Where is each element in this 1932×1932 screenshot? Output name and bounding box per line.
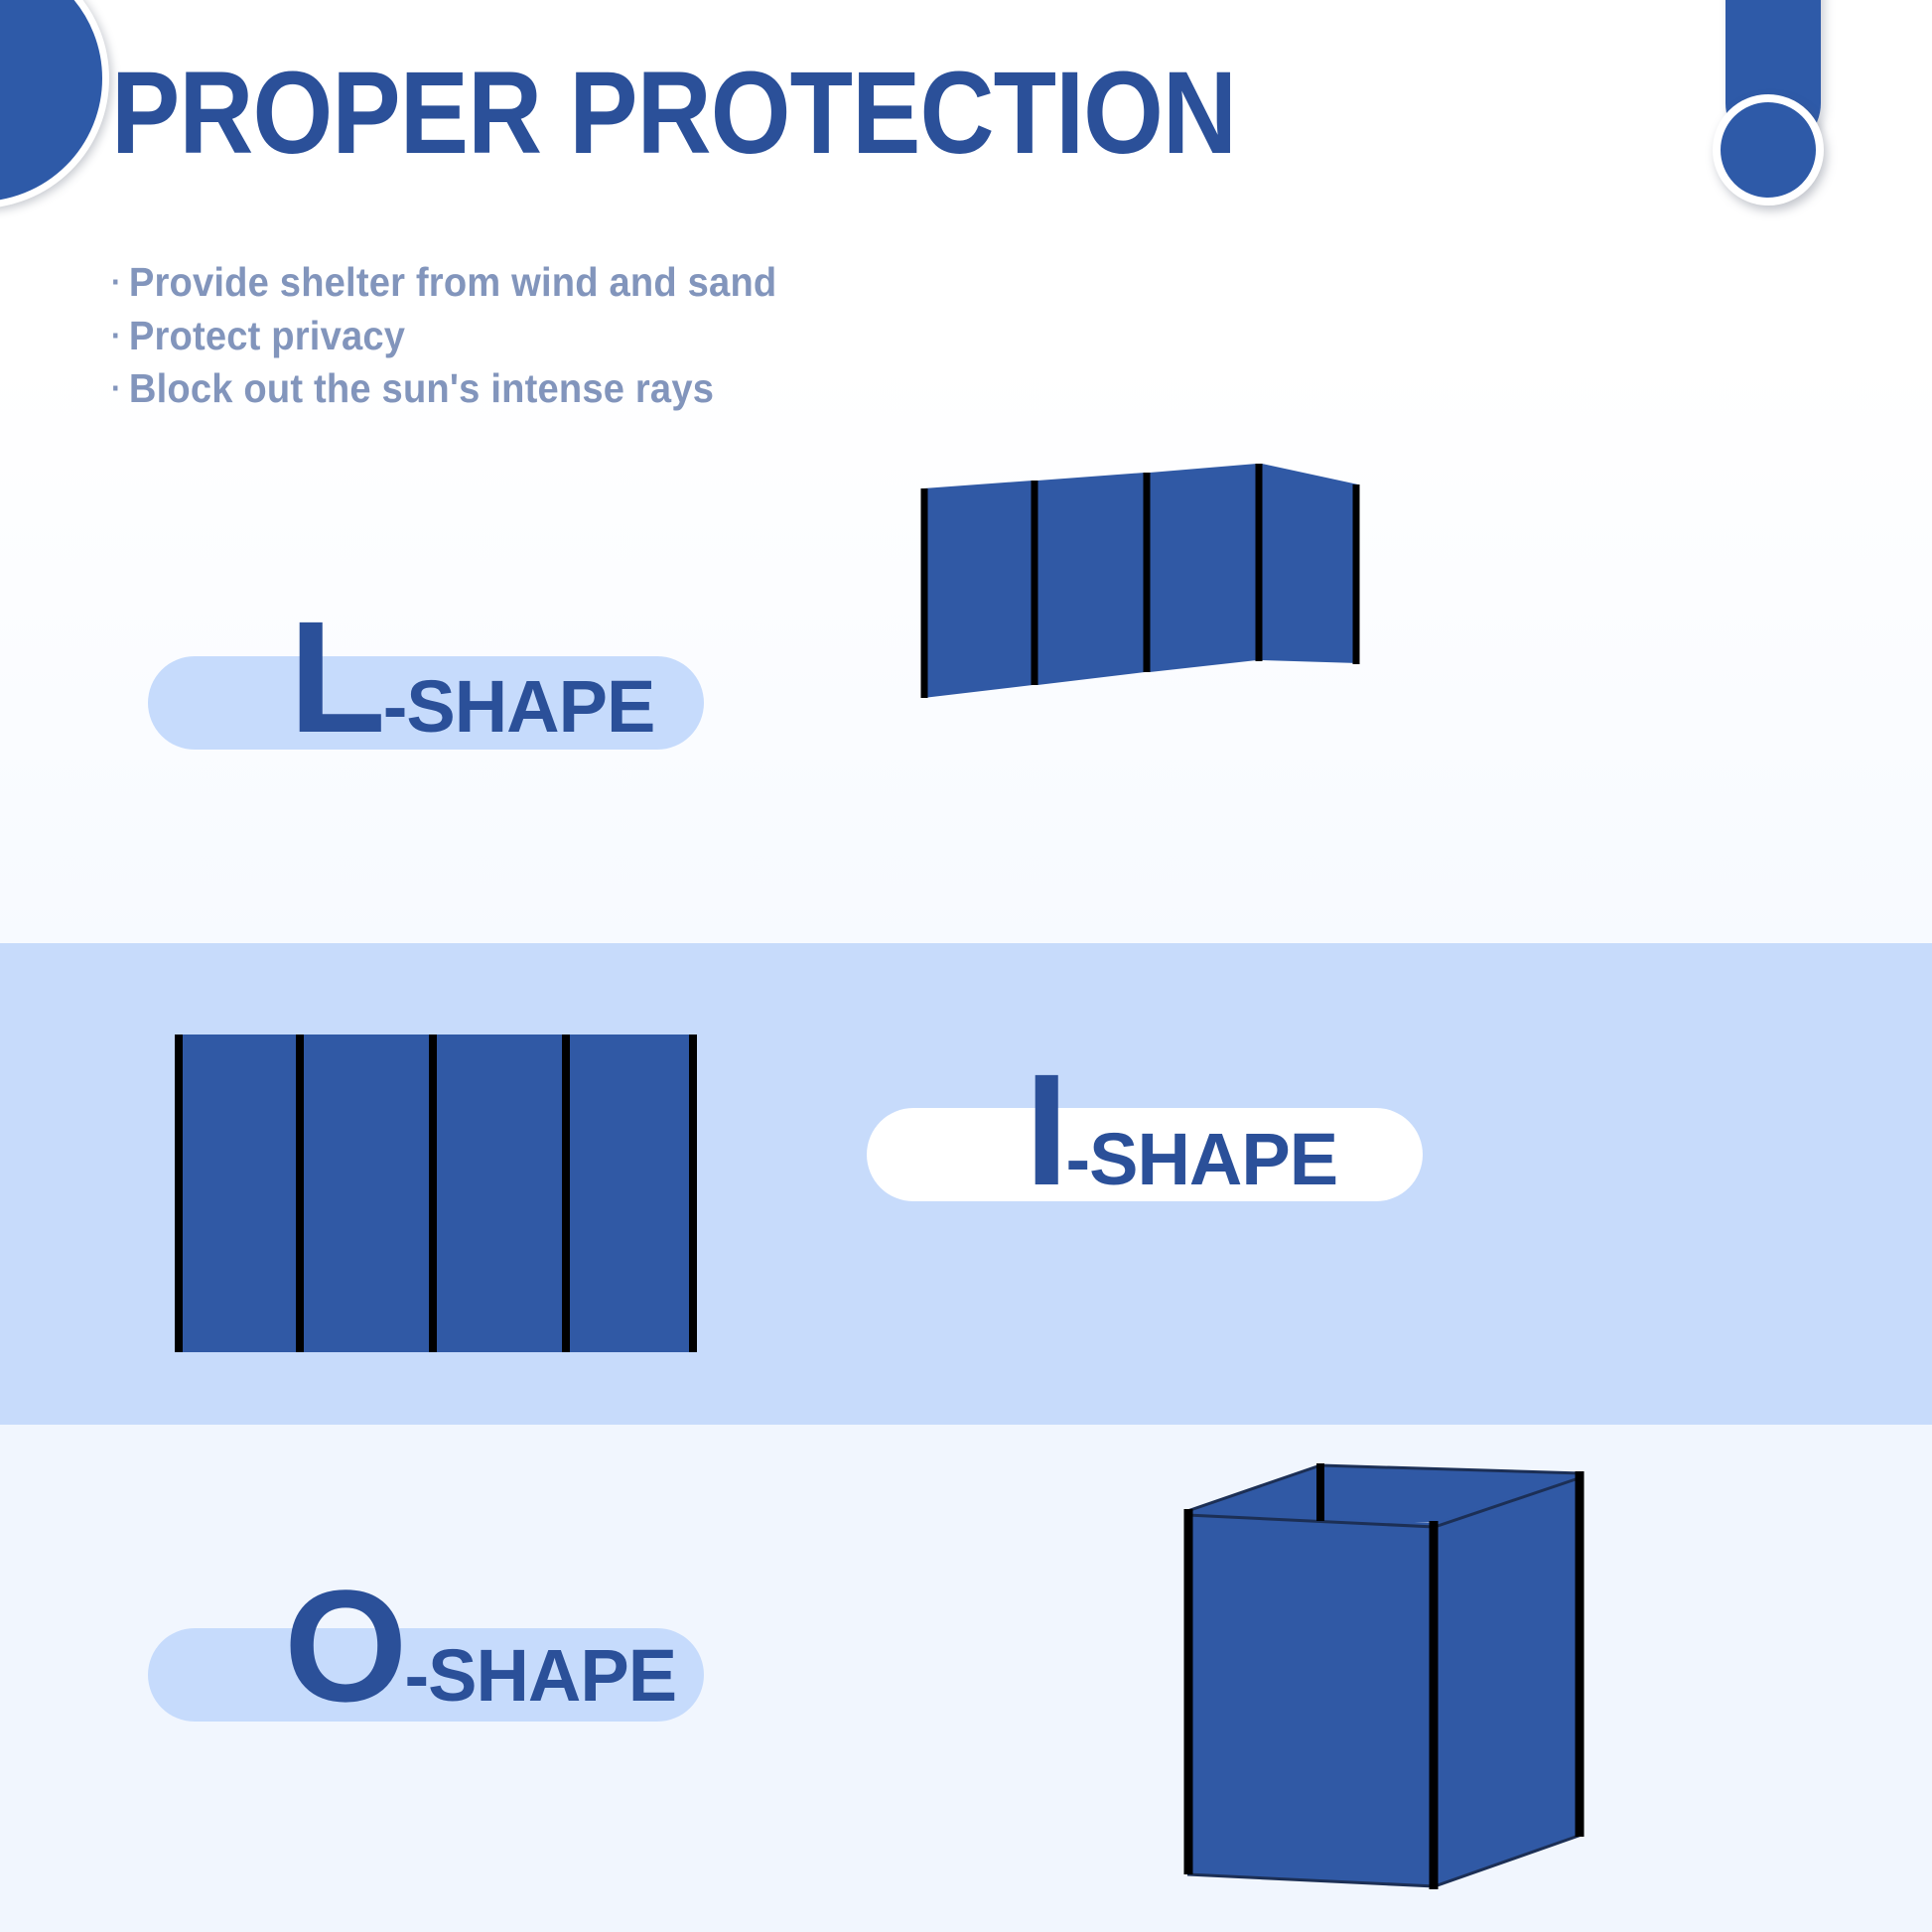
i-shape-illustration <box>169 1023 710 1365</box>
o-right-face <box>1435 1473 1582 1886</box>
bullet-item-2: ·Protect privacy <box>111 310 776 363</box>
bullet-marker-icon: · <box>111 263 121 300</box>
bullet-text-3: Block out the sun's intense rays <box>129 365 714 411</box>
l-panel-2 <box>1037 473 1145 685</box>
bullet-marker-icon: · <box>111 369 121 406</box>
bullet-item-3: ·Block out the sun's intense rays <box>111 362 776 416</box>
infographic-canvas: PROPER PROTECTION ·Provide shelter from … <box>0 0 1932 1932</box>
o-shape-illustration <box>1142 1449 1618 1916</box>
i-shape-label-pill[interactable] <box>867 1108 1423 1201</box>
bullet-item-1: ·Provide shelter from wind and sand <box>111 256 776 310</box>
l-shape-illustration <box>894 397 1430 735</box>
bullet-text-1: Provide shelter from wind and sand <box>129 259 777 305</box>
i-panel-1 <box>177 1035 296 1352</box>
i-panel-2 <box>304 1035 429 1352</box>
page-title: PROPER PROTECTION <box>111 55 1236 172</box>
bullet-text-2: Protect privacy <box>129 313 405 358</box>
o-front-face <box>1187 1511 1435 1886</box>
o-shape-label-pill[interactable] <box>148 1628 704 1722</box>
l-panel-3 <box>1150 464 1257 672</box>
bullet-list: ·Provide shelter from wind and sand ·Pro… <box>111 256 776 416</box>
l-panel-1 <box>923 481 1033 698</box>
top-right-circle-decoration <box>1713 94 1824 206</box>
l-shape-label-pill[interactable] <box>148 656 704 750</box>
i-panel-3 <box>437 1035 562 1352</box>
l-panel-4 <box>1262 464 1358 663</box>
bullet-marker-icon: · <box>111 317 121 353</box>
i-panel-4 <box>570 1035 695 1352</box>
